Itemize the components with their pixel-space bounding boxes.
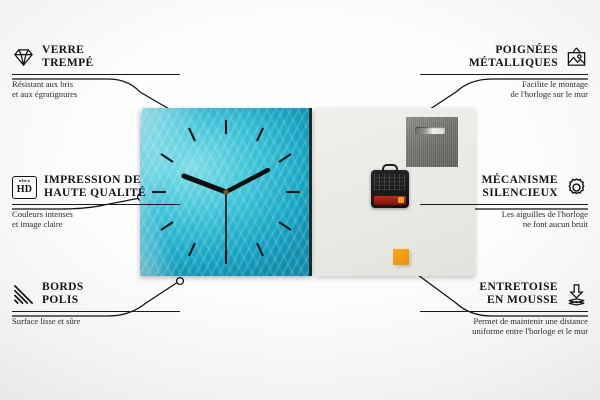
hanging-loop [382,164,398,173]
feature-sub-line2: uniforme entre l'horloge et le mur [420,326,588,336]
feature-sub-line2: de l'horloge sur le mur [420,89,588,99]
feature-subtitle: Résistant aux bris et aux égratignures [12,79,180,100]
feature-title-line2: POLIS [42,294,84,307]
mechanism-housing [374,174,406,190]
divider [420,204,588,205]
feature-title: ENTRETOISE EN MOUSSE [479,281,558,307]
feature-sub-line1: Résistant aux bris [12,79,180,89]
feature-subtitle: Facilite le montage de l'horloge sur le … [420,79,588,100]
feature-title-line1: VERRE [42,44,94,57]
diamond-icon [12,46,35,69]
mechanism-part [371,170,409,208]
beveled-edge-icon [12,283,35,306]
ultra-hd-badge-icon: ultra HD [12,176,37,199]
feature-title-line2: SILENCIEUX [482,187,558,200]
feature-sub-line2: et image claire [12,219,180,229]
feature-title-line2: EN MOUSSE [479,294,558,307]
feature-subtitle: Les aiguilles de l'horloge ne font aucun… [420,209,588,230]
feature-title-line1: ENTRETOISE [479,281,558,294]
feature-subtitle: Surface lisse et sûre [12,316,180,326]
keyhole-slot [415,127,445,134]
feature-title-line1: MÉCANISME [482,174,558,187]
feature-impression-haute-qualite[interactable]: ultra HD IMPRESSION DE HAUTE QUALITÉ Cou… [12,174,180,230]
feature-title-line1: POIGNÉES [469,44,558,57]
feature-sub-line1: Les aiguilles de l'horloge [420,209,588,219]
feature-header: POIGNÉES MÉTALLIQUES [420,44,588,70]
feature-sub-line2: et aux égratignures [12,89,180,99]
divider [12,311,180,312]
feature-title-line2: MÉTALLIQUES [469,57,558,70]
gear-icon [565,176,588,199]
divider [420,311,588,312]
arrow-down-layers-icon [565,283,588,306]
feature-title-line1: IMPRESSION DE [44,174,146,187]
feature-title: VERRE TREMPÉ [42,44,94,70]
battery [374,196,406,205]
divider [12,204,180,205]
feature-sub-line1: Facilite le montage [420,79,588,89]
foam-spacer-part [393,249,409,265]
feature-sub-line1: Permet de maintenir une distance [420,316,588,326]
feature-header: BORDS POLIS [12,281,180,307]
feature-header: ENTRETOISE EN MOUSSE [420,281,588,307]
hd-badge-hd-text: HD [17,185,32,195]
feature-mecanisme-silencieux[interactable]: MÉCANISME SILENCIEUX Les aiguilles de l'… [420,174,588,230]
feature-title-line2: TREMPÉ [42,57,94,70]
feature-header: MÉCANISME SILENCIEUX [420,174,588,200]
feature-subtitle: Couleurs intenses et image claire [12,209,180,230]
feature-header: VERRE TREMPÉ [12,44,180,70]
feature-sub-line2: ne font aucun bruit [420,219,588,229]
feature-title: IMPRESSION DE HAUTE QUALITÉ [44,174,146,200]
feature-sub-line1: Surface lisse et sûre [12,316,180,326]
infographic-canvas: VERRE TREMPÉ Résistant aux bris et aux é… [0,0,600,400]
feature-title: POIGNÉES MÉTALLIQUES [469,44,558,70]
feature-title: BORDS POLIS [42,281,84,307]
feature-subtitle: Permet de maintenir une distance uniform… [420,316,588,337]
feature-poignees-metalliques[interactable]: POIGNÉES MÉTALLIQUES Facilite le montage… [420,44,588,100]
feature-bords-polis[interactable]: BORDS POLIS Surface lisse et sûre [12,281,180,326]
feature-verre-trempe[interactable]: VERRE TREMPÉ Résistant aux bris et aux é… [12,44,180,100]
metal-bracket-part [406,117,458,167]
feature-title-line2: HAUTE QUALITÉ [44,187,146,200]
divider [420,74,588,75]
feature-title-line1: BORDS [42,281,84,294]
feature-title: MÉCANISME SILENCIEUX [482,174,558,200]
feature-header: ultra HD IMPRESSION DE HAUTE QUALITÉ [12,174,180,200]
divider [12,74,180,75]
feature-sub-line1: Couleurs intenses [12,209,180,219]
framed-picture-hanging-icon [565,46,588,69]
feature-entretoise-en-mousse[interactable]: ENTRETOISE EN MOUSSE Permet de maintenir… [420,281,588,337]
